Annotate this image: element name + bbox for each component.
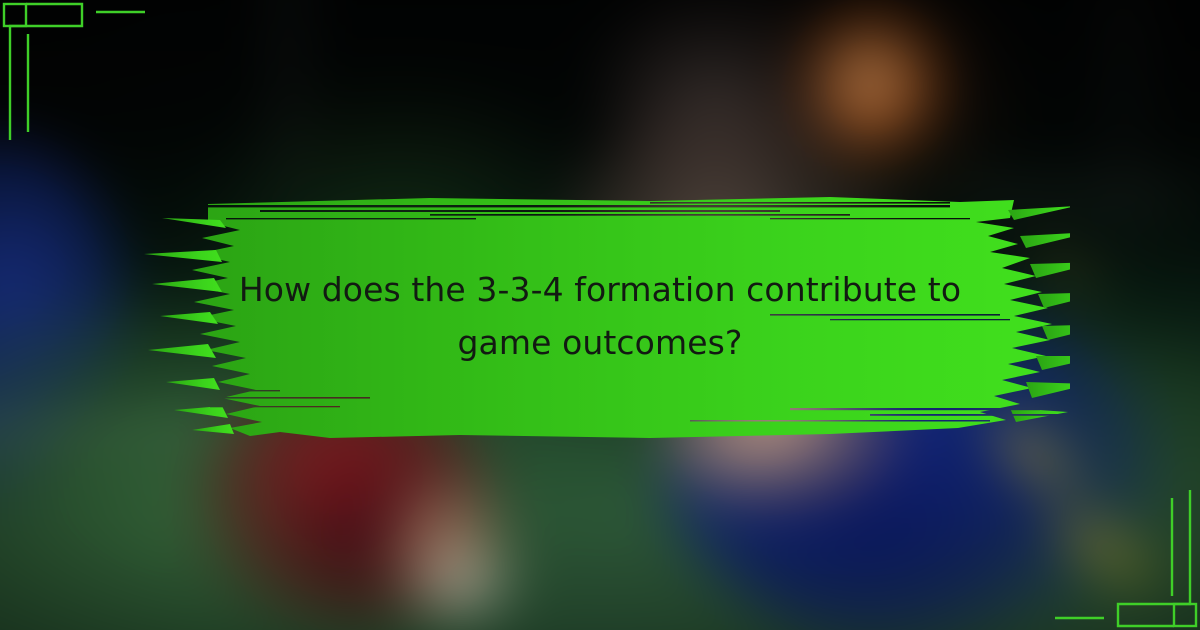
question-line-1: How does the 3-3-4 formation contribute … bbox=[239, 267, 961, 314]
top-left-circuit-bracket-icon bbox=[0, 0, 160, 160]
bottom-right-circuit-bracket-icon bbox=[1040, 470, 1200, 630]
question-card: How does the 3-3-4 formation contribute … bbox=[0, 0, 1200, 630]
question-banner: How does the 3-3-4 formation contribute … bbox=[130, 192, 1070, 442]
question-text: How does the 3-3-4 formation contribute … bbox=[130, 192, 1070, 442]
question-line-2: game outcomes? bbox=[457, 320, 742, 367]
